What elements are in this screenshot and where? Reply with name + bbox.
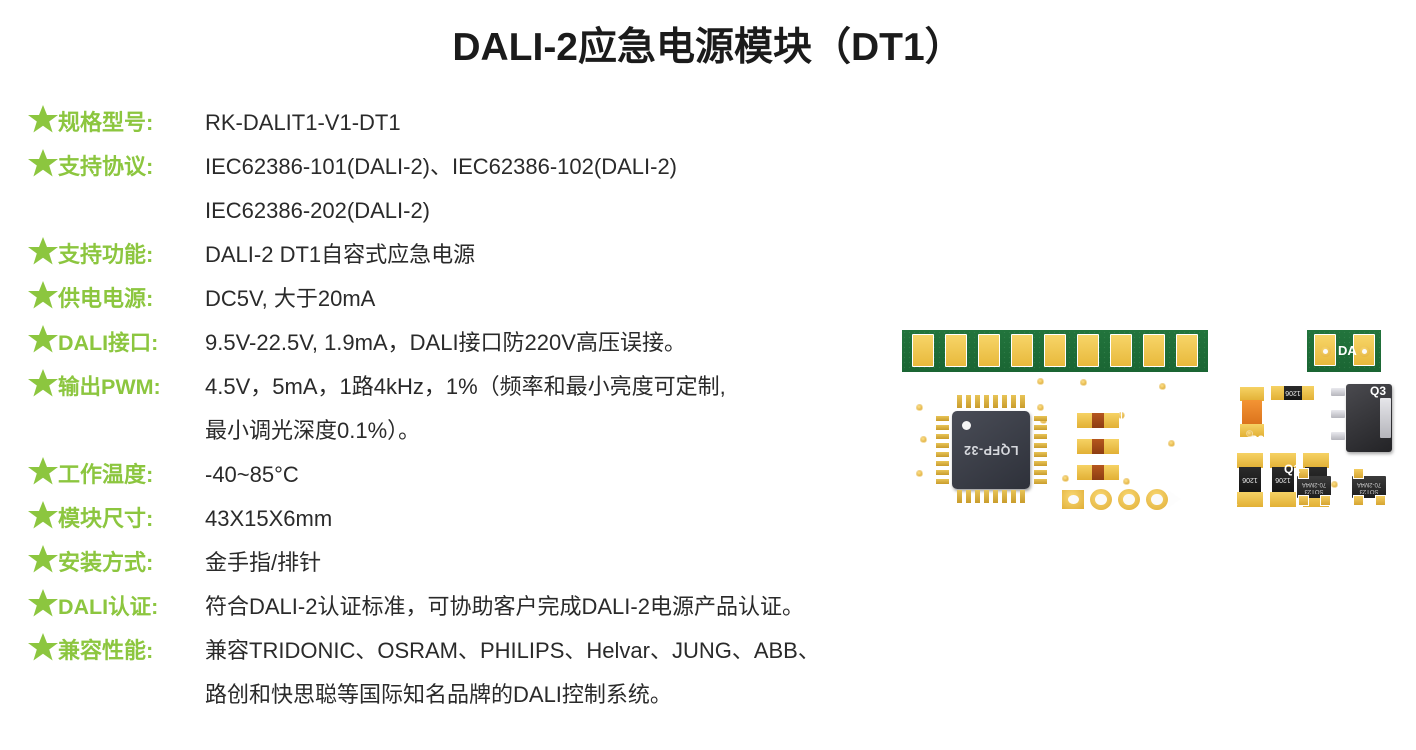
c9-pad-left (1077, 439, 1092, 454)
silkscreen-date-code: 2020.03.30 (1180, 386, 1194, 446)
spec-label: 支持协议: (58, 145, 205, 189)
silkscreen-pin10: 10 (936, 375, 953, 392)
spec-label: 供电电源: (58, 277, 205, 321)
ic-pad (1034, 479, 1047, 484)
spec-value-main: 符合DALI-2认证标准，可协助客户完成DALI-2电源产品认证。 (205, 594, 804, 619)
star-icon (28, 455, 58, 486)
via (1062, 475, 1069, 482)
spec-value-continued: 最小调光深度0.1%）。 (205, 409, 726, 453)
c9-body (1092, 439, 1104, 454)
pcb-product-image: DA 10 18 LQFP-32 (894, 326, 1394, 526)
ic-pad (1020, 395, 1025, 408)
spec-value-main: 43X15X6mm (205, 506, 332, 531)
ic-pad (966, 490, 971, 503)
spec-value: 金手指/排针 (205, 541, 321, 585)
spec-row: 安装方式: 金手指/排针 (28, 541, 988, 585)
spec-row: 模块尺寸: 43X15X6mm (28, 497, 988, 541)
q3-pin (1331, 410, 1345, 418)
star-icon (28, 103, 58, 134)
spec-value-main: DC5V, 大于20mA (205, 286, 375, 311)
designator-r2: R2 (1284, 433, 1299, 447)
r6-pad-right (1302, 386, 1314, 400)
r3-pad-bottom (1270, 492, 1296, 507)
via (1331, 481, 1338, 488)
spec-value: 9.5V-22.5V, 1.9mA，DALI接口防220V高压误接。 (205, 321, 686, 365)
ic-pin1-dot (962, 421, 971, 430)
spec-value-main: 9.5V-22.5V, 1.9mA，DALI接口防220V高压误接。 (205, 330, 686, 355)
specification-list: 规格型号: RK-DALIT1-V1-DT1 支持协议: IEC62386-10… (28, 101, 988, 717)
spec-row: 工作温度: -40~85°C (28, 453, 988, 497)
designator-c8: C8 (1123, 465, 1138, 479)
silkscreen-part-number: RK-DALIT1-V1 (1195, 382, 1210, 471)
c8-pad-left (1077, 465, 1092, 480)
ic-pad (936, 434, 949, 439)
ic-pad (1011, 395, 1016, 408)
ic-pad (936, 461, 949, 466)
spec-value-main: 4.5V，5mA，1路4kHz，1%（频率和最小亮度可定制, (205, 374, 726, 399)
via (1037, 378, 1044, 385)
star-icon (28, 543, 58, 574)
ic-pad (1034, 434, 1047, 439)
gold-finger-pad (1011, 334, 1033, 367)
ic-pad (936, 452, 949, 457)
ic-pad (1034, 461, 1047, 466)
r6-pad-left (1271, 386, 1284, 400)
via (1080, 379, 1087, 386)
ic-pad (984, 395, 989, 408)
via (916, 470, 923, 477)
spec-row: 供电电源: DC5V, 大于20mA (28, 277, 988, 321)
r4-pad-top (1237, 453, 1263, 468)
star-icon (28, 235, 58, 266)
spec-value: 43X15X6mm (205, 497, 332, 541)
star-icon (28, 279, 58, 310)
ic-pad (1020, 490, 1025, 503)
star-icon (28, 367, 58, 398)
q3-pin (1331, 388, 1345, 396)
spec-label: 模块尺寸: (58, 497, 205, 541)
polarity-triangle-marker (1168, 490, 1181, 508)
spec-value-main: -40~85°C (205, 462, 299, 487)
designator-c1: C1 (1269, 406, 1284, 420)
lqfp32-ic: LQFP-32 (952, 411, 1030, 489)
via (1168, 440, 1175, 447)
designator-q1: Q1 (1284, 462, 1300, 476)
spec-value-main: 兼容TRIDONIC、OSRAM、PHILIPS、Helvar、JUNG、ABB… (205, 638, 820, 663)
spec-row: 规格型号: RK-DALIT1-V1-DT1 (28, 101, 988, 145)
spec-value: 兼容TRIDONIC、OSRAM、PHILIPS、Helvar、JUNG、ABB… (205, 629, 820, 717)
ic-pad (1002, 395, 1007, 408)
spec-label: DALI认证: (58, 585, 205, 629)
gold-finger-pad (1044, 334, 1066, 367)
spec-label: 兼容性能: (58, 629, 205, 673)
c4-body (1092, 413, 1104, 428)
gold-finger-pad (978, 334, 1000, 367)
designator-q3: Q3 (1370, 384, 1386, 398)
ic-pad (1034, 443, 1047, 448)
ic-pad (936, 479, 949, 484)
spec-value: DALI-2 DT1自容式应急电源 (205, 233, 475, 277)
c1-body (1242, 400, 1262, 427)
ic-pad (936, 425, 949, 430)
designator-c9: C9 (1123, 439, 1138, 453)
via (1123, 478, 1130, 485)
r2-pad-top (1303, 453, 1329, 468)
star-icon (28, 631, 58, 662)
da-pad-right-hole (1359, 346, 1370, 357)
q1-pin (1320, 495, 1331, 506)
spec-value: IEC62386-101(DALI-2)、IEC62386-102(DALI-2… (205, 145, 677, 233)
spec-label: 规格型号: (58, 101, 205, 145)
via (920, 436, 927, 443)
designator-q2: Q2 (1368, 462, 1384, 476)
spec-value-continued: 路创和快思聪等国际知名品牌的DALI控制系统。 (205, 673, 820, 717)
gold-finger-pad (945, 334, 967, 367)
star-icon (28, 587, 58, 618)
ic-pad (936, 443, 949, 448)
spec-value-main: IEC62386-101(DALI-2)、IEC62386-102(DALI-2… (205, 154, 677, 179)
designator-r6: R6 (1294, 402, 1309, 416)
designator-r4: R4 (1222, 496, 1237, 510)
c8-body (1092, 465, 1104, 480)
via (916, 404, 923, 411)
q3-pin (1331, 432, 1345, 440)
spec-label: 输出PWM: (58, 365, 205, 409)
ic-pad (957, 395, 962, 408)
via (1037, 404, 1044, 411)
gold-finger-pad (912, 334, 934, 367)
gold-finger-pad (1110, 334, 1132, 367)
r4-code: 1206 (1239, 467, 1261, 493)
spec-row: 支持协议: IEC62386-101(DALI-2)、IEC62386-102(… (28, 145, 988, 233)
ic-pad (1034, 425, 1047, 430)
r6-code: 1206 (1284, 386, 1302, 400)
ic-pad (975, 490, 980, 503)
star-icon (28, 323, 58, 354)
spec-value-main: RK-DALIT1-V1-DT1 (205, 110, 401, 135)
gold-finger-pad (1176, 334, 1198, 367)
ic-pad (993, 395, 998, 408)
spec-value: -40~85°C (205, 453, 299, 497)
c1-pad-top (1240, 387, 1264, 401)
r4-body: 1206 (1239, 467, 1261, 493)
spec-value-main: DALI-2 DT1自容式应急电源 (205, 242, 475, 267)
ic-pad (936, 416, 949, 421)
ic-pad (1011, 490, 1016, 503)
spec-row: 兼容性能: 兼容TRIDONIC、OSRAM、PHILIPS、Helvar、JU… (28, 629, 988, 717)
q2-pin (1353, 468, 1364, 479)
test-pad-round (1118, 489, 1140, 510)
spec-value: RK-DALIT1-V1-DT1 (205, 101, 401, 145)
spec-row: 支持功能: DALI-2 DT1自容式应急电源 (28, 233, 988, 277)
da-pad-left-hole (1320, 346, 1331, 357)
spec-value-continued: IEC62386-202(DALI-2) (205, 189, 677, 233)
test-pad-round (1090, 489, 1112, 510)
ic-pad (1034, 470, 1047, 475)
r4-pad-bottom (1237, 492, 1263, 507)
q2-pin (1375, 495, 1386, 506)
via (1246, 430, 1253, 437)
ic-pad (984, 490, 989, 503)
test-pad-round (1146, 489, 1168, 510)
ic-pad (1034, 416, 1047, 421)
product-spec-page: DALI-2应急电源模块（DT1） 规格型号: RK-DALIT1-V1-DT1… (0, 0, 1416, 750)
ic-pad (975, 395, 980, 408)
designator-c4: C4 (1123, 413, 1138, 427)
ic-pad (1002, 490, 1007, 503)
r6-body: 1206 (1284, 386, 1302, 400)
ic-pad (1034, 452, 1047, 457)
ic-pad (966, 395, 971, 408)
spec-label: DALI接口: (58, 321, 205, 365)
c9-pad-right (1104, 439, 1119, 454)
gold-finger-pad (1077, 334, 1099, 367)
c4-pad-left (1077, 413, 1092, 428)
c4-pad-right (1104, 413, 1119, 428)
q3-marking-bar (1380, 398, 1391, 438)
page-title: DALI-2应急电源模块（DT1） (0, 16, 1416, 72)
spec-label: 支持功能: (58, 233, 205, 277)
q2-pin (1353, 495, 1364, 506)
spec-row: DALI接口: 9.5V-22.5V, 1.9mA，DALI接口防220V高压误… (28, 321, 988, 365)
spec-value: 4.5V，5mA，1路4kHz，1%（频率和最小亮度可定制, 最小调光深度0.1… (205, 365, 726, 453)
spec-row: 输出PWM: 4.5V，5mA，1路4kHz，1%（频率和最小亮度可定制, 最小… (28, 365, 988, 453)
silkscreen-da-label: DA (1338, 343, 1357, 358)
spec-label: 安装方式: (58, 541, 205, 585)
spec-value-main: 金手指/排针 (205, 550, 321, 575)
star-icon (28, 499, 58, 530)
spec-label: 工作温度: (58, 453, 205, 497)
c8-pad-right (1104, 465, 1119, 480)
test-pad-square (1062, 490, 1084, 509)
q1-pin (1298, 495, 1309, 506)
spec-row: DALI认证: 符合DALI-2认证标准，可协助客户完成DALI-2电源产品认证… (28, 585, 988, 629)
star-icon (28, 147, 58, 178)
via (1159, 383, 1166, 390)
spec-value: DC5V, 大于20mA (205, 277, 375, 321)
ic-pad (993, 490, 998, 503)
ic-pad (957, 490, 962, 503)
gold-finger-pad (1143, 334, 1165, 367)
ic-pad (936, 470, 949, 475)
spec-value: 符合DALI-2认证标准，可协助客户完成DALI-2电源产品认证。 (205, 585, 804, 629)
